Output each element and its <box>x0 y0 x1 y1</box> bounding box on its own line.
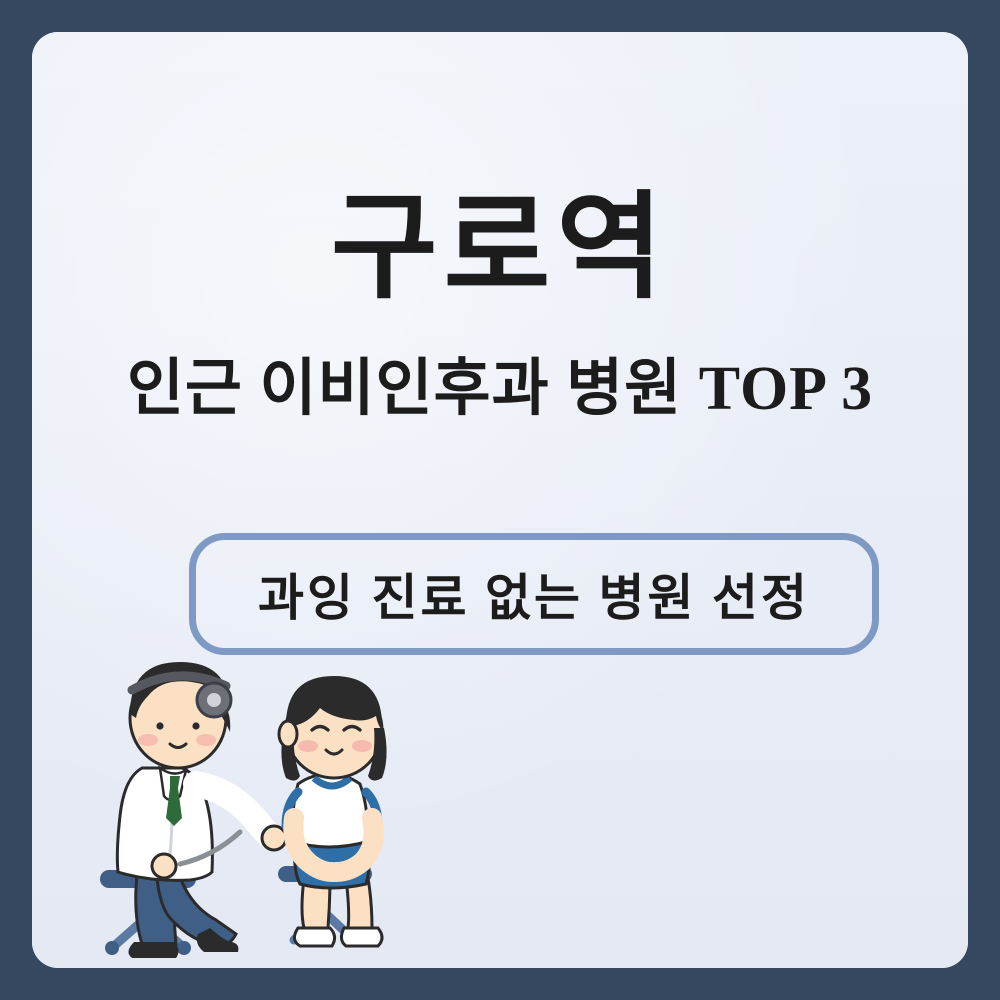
poster-root: 구로역 인근 이비인후과 병원 TOP 3 과잉 진료 없는 병원 선정 <box>0 0 1000 1000</box>
doctor-examining-child-ear-illustration <box>68 578 498 968</box>
page-subtitle: 인근 이비인후과 병원 TOP 3 <box>32 352 968 426</box>
doctor-head <box>130 662 231 768</box>
doctor-figure <box>117 662 286 958</box>
child-figure <box>279 676 387 946</box>
child-head <box>279 676 387 781</box>
poster-content: 구로역 인근 이비인후과 병원 TOP 3 과잉 진료 없는 병원 선정 <box>32 32 968 968</box>
poster-card: 구로역 인근 이비인후과 병원 TOP 3 과잉 진료 없는 병원 선정 <box>32 32 968 968</box>
page-title: 구로역 <box>32 184 968 312</box>
